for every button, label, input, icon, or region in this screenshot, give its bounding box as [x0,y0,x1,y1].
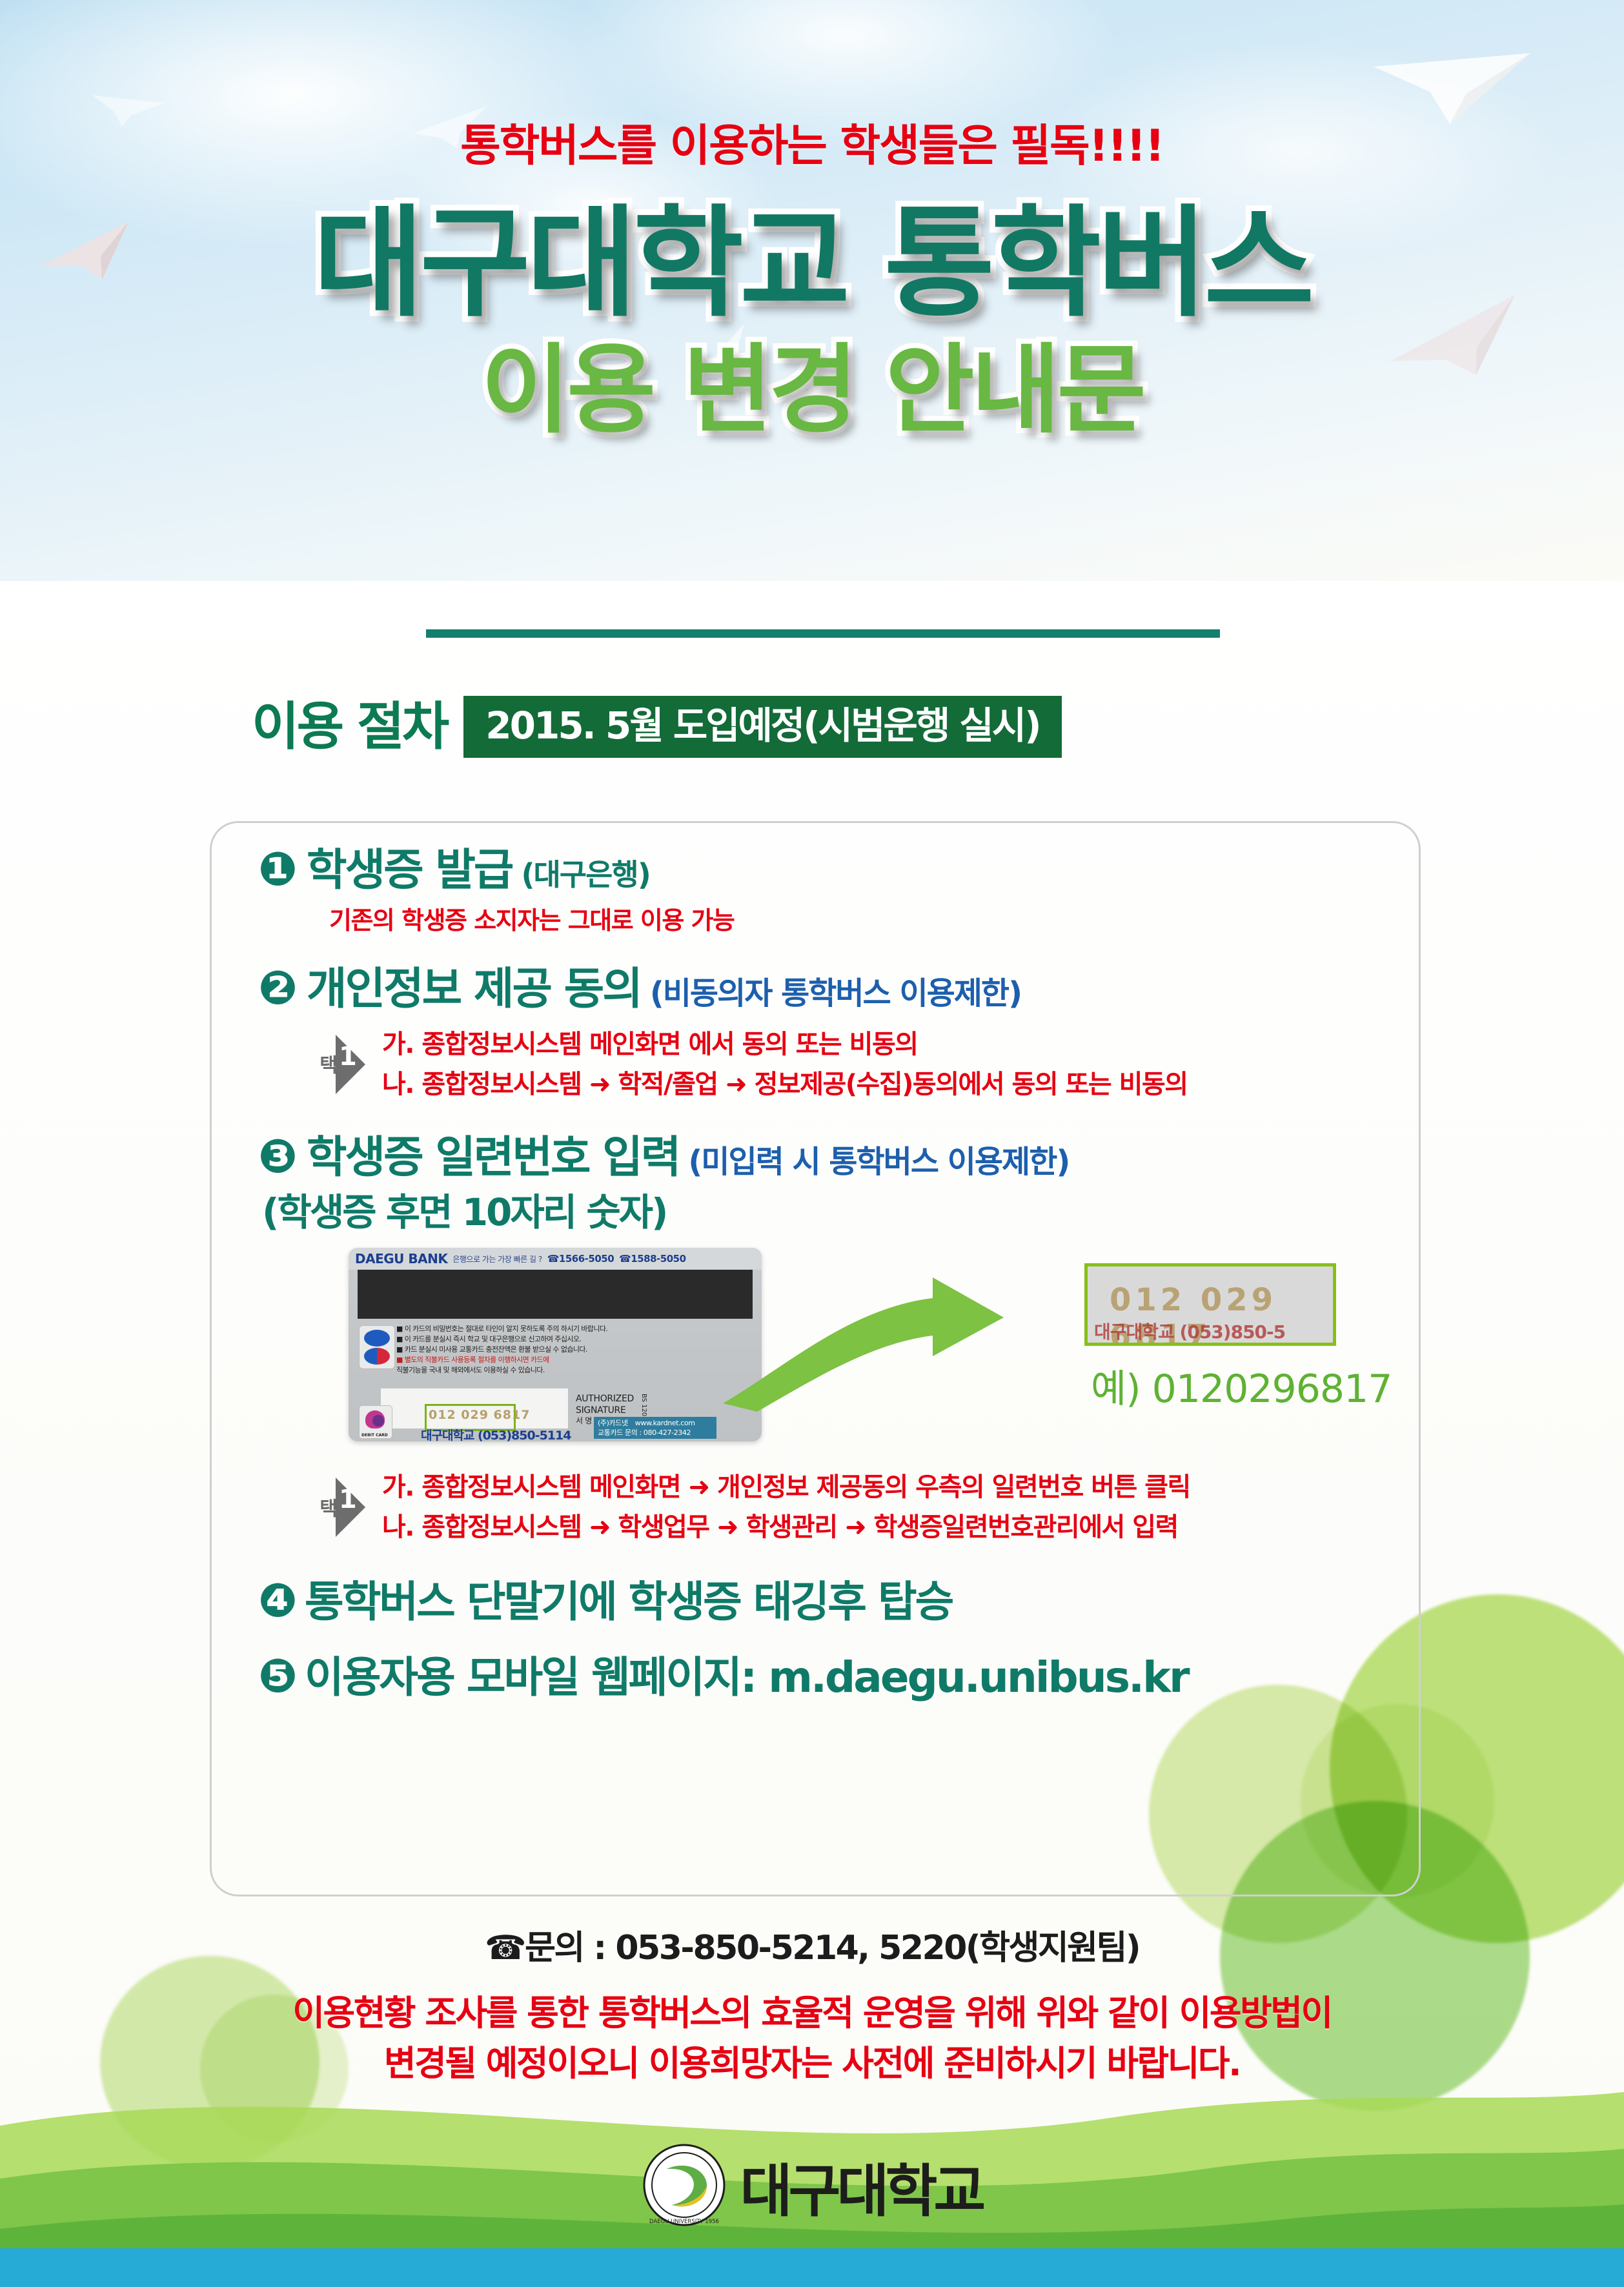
card-notice-line: ■ 이 카드를 분실시 즉시 학교 및 대구은행으로 신고하여 주십시오. [396,1334,674,1345]
section-badge: 2015. 5월 도입예정(시범운행 실시) [463,696,1061,758]
step-item-2: ❷ 개인정보 제공 동의 (비동의자 통학버스 이용제한) 택 1 가. 종합정… [258,964,1420,1104]
card-notice-line: ■ 별도의 직불카드 사용등록 절차를 이행하시면 카드에 [396,1355,674,1365]
choose-line: 가. 종합정보시스템 메인화면 ➜ 개인정보 제공동의 우측의 일련번호 버튼 … [382,1467,1190,1507]
card-notice-line: 직불기능을 국내 및 해외에서도 이용하실 수 있습니다. [396,1365,674,1376]
kicker-text: 통학버스를 이용하는 학생들은 필독!!!! [0,110,1624,174]
kardnet-name: (주)카드넷 [598,1419,628,1427]
step-item-1: ❶ 학생증 발급 (대구은행) 기존의 학생증 소지자는 그대로 이용 가능 [258,846,1420,936]
choose-line: 나. 종합정보시스템 ➜ 학적/졸업 ➜ 정보제공(수집)동의에서 동의 또는 … [382,1064,1188,1104]
bank-card-back-image: DAEGU BANK 은행으로 가는 가장 빠른 길 ? ☎1566-5050 … [349,1248,762,1441]
choose-one-block: 택 1 가. 종합정보시스템 메인화면 ➜ 개인정보 제공동의 우측의 일련번호… [316,1467,1420,1547]
step-paren: (미입력 시 통학버스 이용제한) [688,1136,1069,1181]
choose-lines: 가. 종합정보시스템 메인화면 에서 동의 또는 비동의 나. 종합정보시스템 … [382,1024,1188,1104]
bank-tagline: 은행으로 가는 가장 빠른 길 ? [452,1254,542,1265]
title-line-2: 이용 변경 안내문 [0,338,1624,444]
card-serial-number: 012 029 6817 [429,1408,530,1422]
debit-card-logo-icon: DEBIT CARD [359,1405,392,1439]
card-notice-bullets: ■ 이 카드의 비밀번호는 절대로 타인이 알지 못하도록 주의 하시기 바랍니… [396,1324,674,1376]
step-title: 개인정보 제공 동의 [307,966,641,1014]
section-title: 이용 절차 [252,701,447,753]
university-seal-icon: DAEGU UNIVERSITY 1956 [642,2143,726,2230]
steps-list: ❶ 학생증 발급 (대구은행) 기존의 학생증 소지자는 그대로 이용 가능 ❷… [258,846,1420,1705]
serial-magnified-callout: 012 029 6817 대구대학교 (053)850-5 [1084,1263,1336,1346]
example-serial-label: 예) 0120296817 [1091,1357,1392,1414]
debit-label: DEBIT CARD [361,1433,388,1438]
step-second-line: (학생증 후면 10자리 숫자) [262,1182,1420,1236]
card-notice-line: ■ 이 카드의 비밀번호는 절대로 타인이 알지 못하도록 주의 하시기 바랍니… [396,1324,674,1334]
step-title: 학생증 일련번호 입력 [307,1134,679,1183]
title-divider [426,629,1220,638]
step-title: 통학버스 단말기에 학생증 태깅후 탑승 [305,1578,952,1627]
notice-line-1: 이용현황 조사를 통한 통학버스의 효율적 운영을 위해 위와 같이 이용방법이 [0,1988,1624,2038]
seal-ring-text: DAEGU UNIVERSITY 1956 [649,2219,719,2225]
kardnet-site: www.kardnet.com [635,1419,695,1427]
step-item-4: ❹ 통학버스 단말기에 학생증 태깅후 탑승 [258,1577,1420,1627]
university-logo-row: DAEGU UNIVERSITY 1956 대구대학교 [0,2143,1624,2230]
green-curved-arrow-icon [700,1271,1107,1422]
signature-word: SIGNATURE [576,1405,634,1417]
footer-color-bar [0,2248,1624,2287]
step-subtext: 기존의 학생증 소지자는 그대로 이용 가능 [329,900,1420,936]
card-top-strip: DAEGU BANK 은행으로 가는 가장 빠른 길 ? ☎1566-5050 … [349,1248,762,1270]
choose-triangle-icon: 1 [336,1035,365,1094]
bank-tel-2: ☎1588-5050 [619,1253,685,1265]
bottom-notice: 이용현황 조사를 통한 통학버스의 효율적 운영을 위해 위와 같이 이용방법이… [0,1988,1624,2089]
contact-line: ☎문의 : 053-850-5214, 5220(학생지원팀) [0,1920,1624,1969]
kardnet-tel: 교통카드 문의 : 080-427-2342 [598,1428,713,1438]
choose-line: 나. 종합정보시스템 ➜ 학생업무 ➜ 학생관리 ➜ 학생증일련번호관리에서 입… [382,1507,1190,1547]
choose-lines: 가. 종합정보시스템 메인화면 ➜ 개인정보 제공동의 우측의 일련번호 버튼 … [382,1467,1190,1547]
step-title: 학생증 발급 [307,847,512,895]
step-title: 이용자용 모바일 웹페이지: m.daegu.unibus.kr [305,1653,1188,1702]
bank-name: DAEGU BANK [355,1251,447,1266]
step-number: ❷ [258,964,298,1011]
auth-word: AUTHORIZED [576,1394,634,1405]
section-header: 이용 절차 2015. 5월 도입예정(시범운행 실시) [252,696,1062,758]
notice-line-2: 변경될 예정이오니 이용희망자는 사전에 준비하시기 바랍니다. [0,2038,1624,2089]
step-paren: (비동의자 통학버스 이용제한) [650,968,1021,1013]
choose-one-marker: 택 1 [316,1035,365,1094]
poster-root: 통학버스를 이용하는 학생들은 필독!!!! 대구대학교 통학버스 이용 변경 … [0,0,1624,2287]
card-notice-line: ■ 카드 분실시 미사용 교통카드 충전잔액은 환불 받으실 수 없습니다. [396,1345,674,1355]
choose-label: 택 [316,1498,336,1517]
student-card-illustration: DAEGU BANK 은행으로 가는 가장 빠른 길 ? ☎1566-5050 … [349,1248,1420,1461]
choose-triangle-icon: 1 [336,1478,365,1537]
step-number: ❹ [258,1577,296,1623]
choose-number: 1 [339,1487,357,1512]
university-name: 대구대학교 [740,2146,982,2228]
magnetic-stripe [358,1270,753,1319]
step-number: ❸ [258,1133,298,1179]
step-number: ❶ [258,846,298,892]
title-line-1: 대구대학교 통학버스 [0,200,1624,326]
choose-line: 가. 종합정보시스템 메인화면 에서 동의 또는 비동의 [382,1024,1188,1064]
poster-title: 대구대학교 통학버스 이용 변경 안내문 [0,200,1624,444]
choose-number: 1 [339,1044,357,1070]
cirrus-maestro-logo-icon [359,1325,395,1369]
choose-one-marker: 택 1 [316,1478,365,1537]
choose-label: 택 [316,1055,336,1073]
callout-subtext: 대구대학교 (053)850-5 [1094,1318,1285,1344]
step-item-5: ❺ 이용자용 모바일 웹페이지: m.daegu.unibus.kr [258,1652,1420,1702]
kardnet-box: (주)카드넷 www.kardnet.com 교통카드 문의 : 080-427… [594,1417,716,1439]
choose-one-block: 택 1 가. 종합정보시스템 메인화면 에서 동의 또는 비동의 나. 종합정보… [316,1024,1420,1104]
step-item-3: ❸ 학생증 일련번호 입력 (미입력 시 통학버스 이용제한) (학생증 후면 … [258,1133,1420,1548]
step-number: ❺ [258,1652,296,1699]
step-paren: (대구은행) [521,851,649,894]
bank-tel-1: ☎1566-5050 [547,1253,614,1265]
card-school-tel: 대구대학교 (053)850-5114 [421,1426,571,1441]
